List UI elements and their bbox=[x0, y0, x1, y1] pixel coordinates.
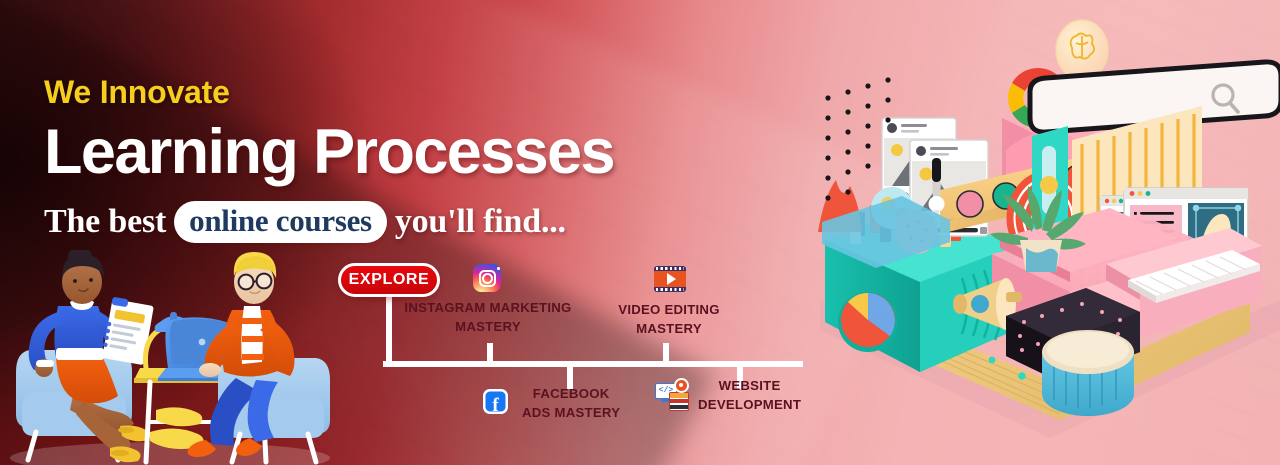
course-label-line1: FACEBOOK bbox=[533, 386, 610, 401]
course-label-line1: WEBSITE bbox=[719, 378, 781, 393]
hero-banner: We Innovate Learning Processes The best … bbox=[0, 0, 1280, 465]
course-item-website-development[interactable]: </> WEBSITE DEVELOPMENT bbox=[655, 377, 801, 414]
course-label-website: WEBSITE DEVELOPMENT bbox=[698, 377, 801, 414]
facebook-icon: f bbox=[483, 389, 513, 419]
headline-copy-block: We Innovate Learning Processes The best … bbox=[44, 76, 614, 243]
pie-chart-decal bbox=[838, 292, 898, 352]
course-label-instagram: INSTAGRAM MARKETING MASTERY bbox=[393, 299, 583, 336]
eyebrow-text: We Innovate bbox=[44, 76, 614, 108]
course-label-line1: INSTAGRAM MARKETING bbox=[404, 300, 571, 315]
page-title: Learning Processes bbox=[44, 120, 614, 184]
two-people-at-desk-3d-illustration bbox=[0, 250, 345, 465]
course-item-facebook-ads[interactable]: f FACEBOOK ADS MASTERY bbox=[483, 385, 620, 422]
explore-button-label: EXPLORE bbox=[349, 271, 430, 289]
course-label-line2: MASTERY bbox=[455, 319, 521, 334]
course-label-line2: MASTERY bbox=[636, 321, 702, 336]
instagram-icon bbox=[473, 264, 503, 294]
website-development-icon: </> bbox=[655, 381, 689, 411]
subheadline: The best online courses you'll find... bbox=[44, 201, 614, 242]
digital-marketing-3d-isometric-scene bbox=[810, 0, 1280, 465]
course-label-line1: VIDEO EDITING bbox=[618, 302, 719, 317]
course-label-facebook: FACEBOOK ADS MASTERY bbox=[522, 385, 620, 422]
blue-cylinder-stool bbox=[1042, 330, 1134, 416]
explore-button[interactable]: EXPLORE bbox=[338, 263, 440, 297]
course-item-video-editing[interactable]: VIDEO EDITING MASTERY bbox=[575, 266, 763, 338]
video-film-icon bbox=[654, 266, 684, 296]
course-label-line2: ADS MASTERY bbox=[522, 405, 620, 420]
online-courses-highlight: online courses bbox=[174, 201, 387, 242]
subheadline-before: The best bbox=[44, 205, 166, 239]
course-label-line2: DEVELOPMENT bbox=[698, 397, 801, 412]
course-label-video: VIDEO EDITING MASTERY bbox=[575, 301, 763, 338]
subheadline-after: you'll find... bbox=[395, 205, 566, 239]
